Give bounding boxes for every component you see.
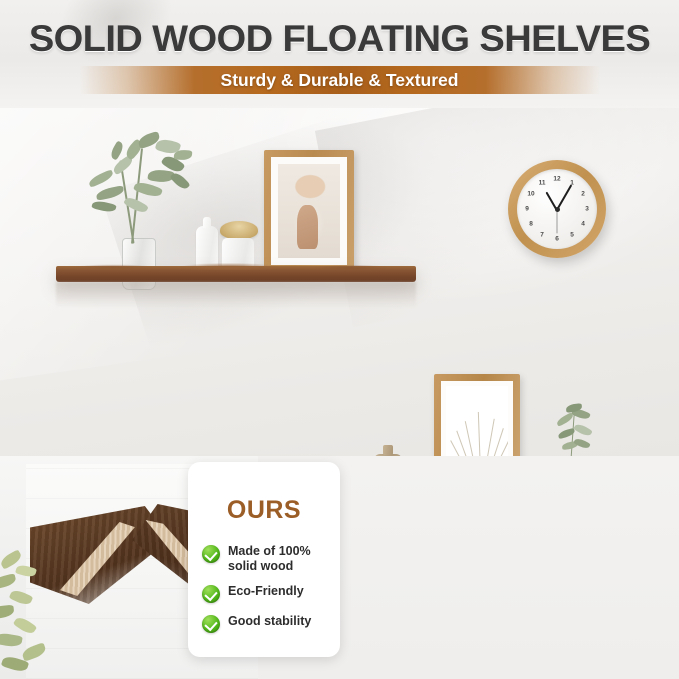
check-circle-icon — [202, 545, 220, 563]
plant-leaf — [91, 199, 116, 214]
foliage-leaf — [13, 615, 37, 636]
foliage-leaf — [15, 563, 37, 578]
list-item: Made of 100% solid wood — [202, 544, 328, 573]
foliage-leaf — [21, 642, 48, 661]
plant-leaf — [174, 149, 193, 160]
check-circle-icon — [202, 585, 220, 603]
check-circle-icon — [202, 615, 220, 633]
clock-number: 7 — [537, 232, 547, 239]
clock-number: 2 — [578, 191, 588, 198]
subtitle-text: Sturdy & Durable & Textured — [0, 66, 679, 94]
grass-stem — [478, 412, 481, 456]
foliage-leaf — [0, 605, 15, 620]
plant-stem — [131, 148, 143, 244]
clock-number: 10 — [526, 191, 536, 198]
wooden-wall-clock: 12 1 2 3 4 5 6 7 8 9 10 11 — [508, 160, 606, 258]
list-item: Good stability — [202, 614, 328, 633]
hero-room-photo: 12 1 2 3 4 5 6 7 8 9 10 11 — [0, 108, 679, 456]
clock-number: 12 — [552, 176, 562, 183]
foliage-leaf — [0, 632, 23, 649]
header-banner: SOLID WOOD FLOATING SHELVES Sturdy & Dur… — [0, 0, 679, 108]
clock-number: 4 — [578, 221, 588, 228]
framed-dried-grass-art — [446, 386, 508, 456]
ours-comparison-card: OURS Made of 100% solid wood Eco-Friendl… — [188, 462, 340, 657]
foliage-leaf — [9, 588, 34, 607]
page-title: SOLID WOOD FLOATING SHELVES — [0, 18, 679, 60]
plant-leaf — [169, 170, 190, 191]
frame-mat — [271, 157, 347, 265]
clock-number: 3 — [582, 206, 592, 213]
gold-decorative-dish — [220, 221, 258, 239]
ours-title: OURS — [188, 496, 340, 525]
clock-face: 12 1 2 3 4 5 6 7 8 9 10 11 — [517, 169, 597, 249]
eucalyptus-plant-in-glass-vase — [78, 130, 208, 270]
list-item-label: Made of 100% solid wood — [228, 544, 328, 573]
upper-floating-shelf — [56, 266, 416, 282]
grass-stem — [484, 419, 495, 456]
framed-photo-woman — [278, 164, 340, 258]
wooden-picture-frame-botanical — [434, 374, 520, 456]
green-plant-in-glass-vase — [548, 404, 600, 456]
list-item-label: Eco-Friendly — [228, 584, 304, 599]
foliage-leaf — [0, 573, 17, 589]
clock-second-hand — [557, 210, 558, 234]
frame-mat — [441, 381, 513, 456]
plant-leaf — [573, 422, 593, 438]
clock-number: 9 — [522, 206, 532, 213]
clock-number: 5 — [567, 232, 577, 239]
clock-center-pin — [555, 207, 560, 212]
list-item-label: Good stability — [228, 614, 311, 629]
product-infographic: SOLID WOOD FLOATING SHELVES Sturdy & Dur… — [0, 0, 679, 679]
plant-leaf — [87, 169, 114, 188]
plant-leaf — [573, 437, 590, 450]
clock-number: 8 — [526, 221, 536, 228]
ours-feature-list: Made of 100% solid wood Eco-Friendly Goo… — [202, 544, 328, 644]
list-item: Eco-Friendly — [202, 584, 328, 603]
plant-leaf — [95, 185, 124, 201]
decorative-foliage — [0, 548, 74, 679]
clock-number: 11 — [537, 180, 547, 187]
upper-shelf-shadow — [56, 282, 416, 308]
clock-number: 6 — [552, 236, 562, 243]
grass-stem — [465, 421, 477, 456]
wooden-picture-frame-portrait — [264, 150, 354, 272]
subtitle-banner: Sturdy & Durable & Textured — [0, 66, 679, 94]
